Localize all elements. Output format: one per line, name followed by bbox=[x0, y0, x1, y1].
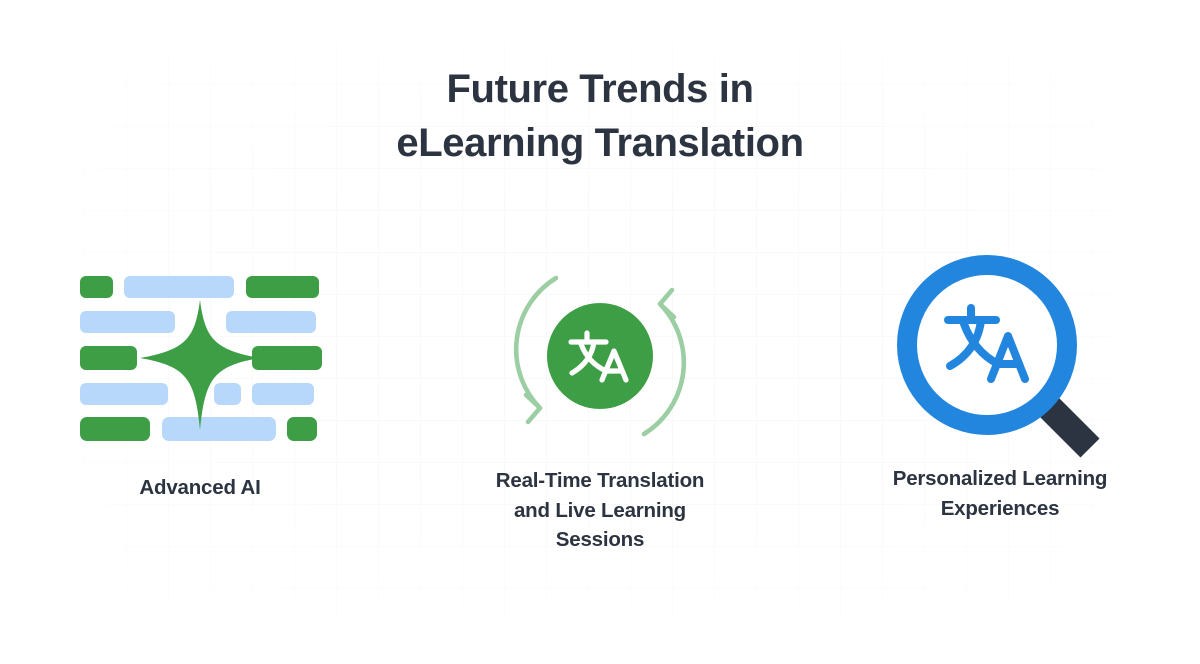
translate-circle-badge bbox=[547, 303, 653, 409]
icon-slot-personalized bbox=[890, 248, 1110, 463]
caption-line: Personalized Learning bbox=[893, 464, 1108, 494]
page-title: Future Trends in eLearning Translation bbox=[0, 62, 1200, 170]
caption-line: Real-Time Translation bbox=[496, 466, 704, 496]
caption-line: Advanced AI bbox=[139, 473, 260, 503]
trend-column-personalized: Personalized Learning Experiences bbox=[800, 248, 1200, 523]
page-title-line-2: eLearning Translation bbox=[0, 116, 1200, 170]
caption-realtime: Real-Time Translation and Live Learning … bbox=[496, 466, 704, 555]
ai-text-sparkle-icon bbox=[74, 266, 326, 446]
page-title-line-1: Future Trends in bbox=[0, 62, 1200, 116]
trend-column-advanced-ai: Advanced AI bbox=[0, 248, 400, 503]
icon-slot-realtime bbox=[502, 248, 698, 463]
icon-slot-advanced-ai bbox=[74, 248, 326, 471]
translate-magnifier-icon bbox=[890, 248, 1110, 463]
trend-columns: Advanced AI bbox=[0, 248, 1200, 555]
magnifier-ring-icon bbox=[907, 265, 1067, 425]
caption-personalized: Personalized Learning Experiences bbox=[893, 464, 1108, 523]
caption-line: and Live Learning bbox=[496, 496, 704, 526]
caption-line: Experiences bbox=[893, 494, 1108, 524]
trend-column-realtime: Real-Time Translation and Live Learning … bbox=[400, 248, 800, 555]
caption-advanced-ai: Advanced AI bbox=[139, 473, 260, 503]
infographic-root: Future Trends in eLearning Translation bbox=[0, 0, 1200, 664]
translate-refresh-cycle-icon bbox=[502, 261, 698, 451]
caption-line: Sessions bbox=[496, 525, 704, 555]
